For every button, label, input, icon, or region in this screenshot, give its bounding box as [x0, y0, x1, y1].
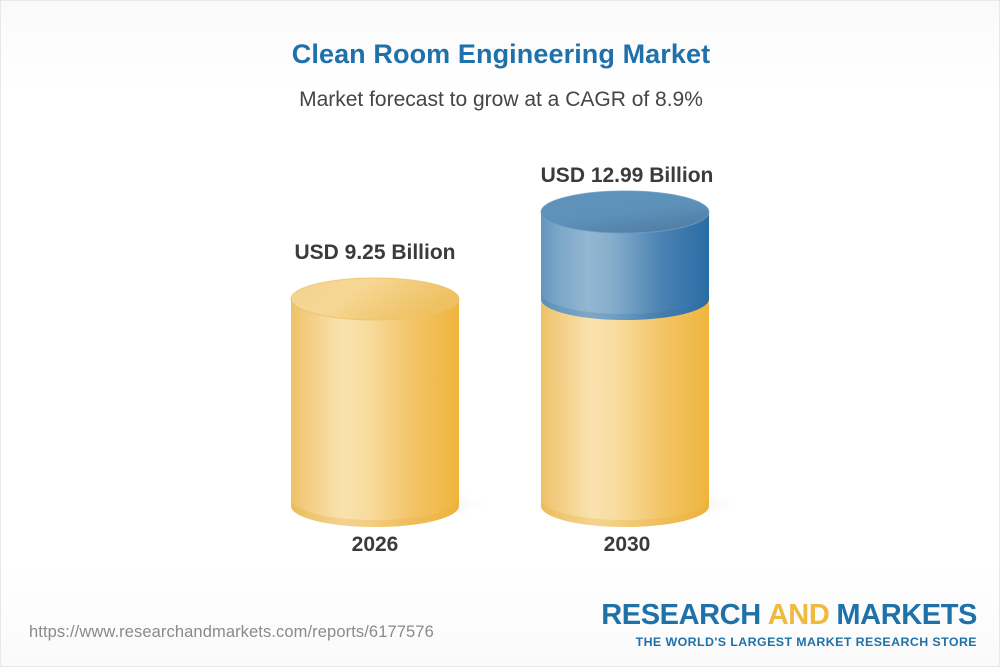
cylinder-bars-graphic: [1, 1, 1000, 667]
data-label-2026: USD 9.25 Billion: [205, 241, 545, 265]
source-url[interactable]: https://www.researchandmarkets.com/repor…: [29, 623, 434, 642]
research-and-markets-logo[interactable]: RESEARCHANDMARKETS THE WORLD'S LARGEST M…: [601, 601, 977, 649]
logo-wordmark: RESEARCHANDMARKETS: [601, 601, 977, 630]
category-label-2026: 2026: [285, 533, 465, 557]
data-label-2030: USD 12.99 Billion: [457, 164, 797, 188]
chart-plot-area: USD 9.25 Billion USD 12.99 Billion 2026 …: [1, 1, 1000, 667]
logo-word-and: AND: [768, 599, 830, 631]
logo-word-research: RESEARCH: [601, 599, 761, 631]
chart-canvas: Clean Room Engineering Market Market for…: [0, 0, 1000, 667]
logo-word-markets: MARKETS: [836, 599, 977, 631]
bar-2026: [291, 278, 488, 527]
logo-tagline: THE WORLD'S LARGEST MARKET RESEARCH STOR…: [601, 635, 977, 649]
bar-2030: [541, 191, 740, 527]
category-label-2030: 2030: [537, 533, 717, 557]
